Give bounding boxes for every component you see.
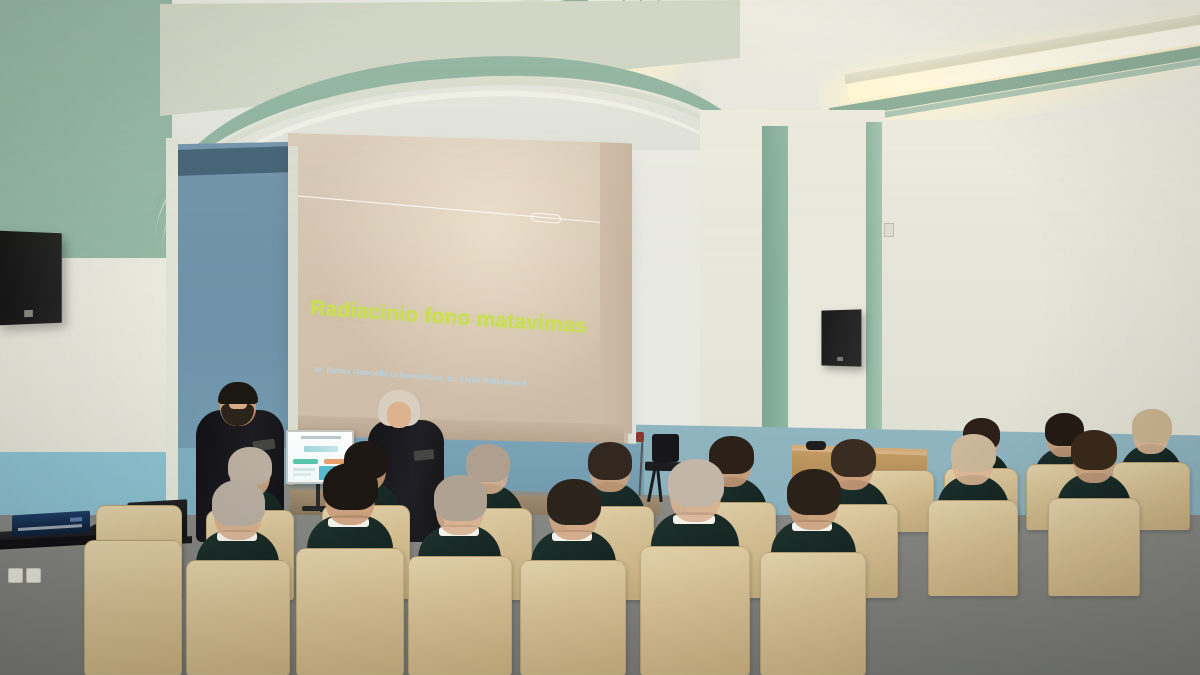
auditorium-seat[interactable] xyxy=(928,500,1018,596)
left-wall-green-band xyxy=(0,0,172,260)
presenter-right-face xyxy=(387,402,411,428)
alcove-header-shadow xyxy=(176,146,294,176)
audience-member-hair xyxy=(668,459,724,507)
alcove-frame-left xyxy=(166,138,178,523)
audience-member-hair xyxy=(212,480,265,526)
piano-top-object xyxy=(806,441,826,450)
slide-title: Radiacinio fono matavimas xyxy=(310,297,588,339)
wall-power-outlet[interactable] xyxy=(8,568,23,583)
wall-power-outlet[interactable] xyxy=(26,568,41,583)
auditorium-seat[interactable] xyxy=(408,556,512,675)
projection-screen: ktu 1922 Radiacinio fono matavimas dr. B… xyxy=(288,133,628,443)
audience-member-hair xyxy=(1132,409,1172,443)
audience-member-hair xyxy=(831,439,876,477)
wall-pier-green-secondary xyxy=(866,122,882,482)
slide-capsule-shape xyxy=(531,212,561,224)
stage-chair-back[interactable] xyxy=(652,434,679,462)
monitor-stand-neck xyxy=(316,484,320,508)
wall-speaker-left xyxy=(0,231,62,326)
auditorium-seat[interactable] xyxy=(760,552,866,675)
audience-member-hair xyxy=(951,434,996,472)
wall-speaker-right xyxy=(821,309,861,366)
auditorium-seat[interactable] xyxy=(1048,498,1140,596)
monitor-title-bar xyxy=(301,436,341,439)
monitor-heading xyxy=(304,446,338,452)
speaker-badge xyxy=(24,310,33,317)
auditorium-seat[interactable] xyxy=(296,548,404,675)
audience-member-hair xyxy=(1071,430,1117,470)
monitor-text-line xyxy=(293,468,315,471)
wall-pier-green xyxy=(762,126,788,476)
auditorium-seat[interactable] xyxy=(186,560,290,675)
auditorium-seat[interactable] xyxy=(640,546,750,675)
monitor-text-line xyxy=(293,473,311,476)
slide-subtitle: dr. Benas Gabrielis Urbonavičius, dr. Ži… xyxy=(314,365,528,389)
light-switch[interactable] xyxy=(884,223,894,237)
lecture-hall-scene: ktu 1922 Radiacinio fono matavimas dr. B… xyxy=(0,0,1200,675)
wall-pier-light xyxy=(788,126,866,478)
media-player-strip xyxy=(18,524,82,531)
audience-member-hair xyxy=(588,442,632,480)
audience-member-hair xyxy=(787,469,841,515)
auditorium-seat[interactable] xyxy=(520,560,626,675)
presenter-right-hoodie-logo xyxy=(414,449,435,461)
audience-member-hair xyxy=(434,475,487,521)
auditorium-seat[interactable] xyxy=(84,540,182,675)
media-player-led xyxy=(70,517,82,522)
microphone-head xyxy=(636,432,644,442)
media-player-box[interactable] xyxy=(12,511,90,538)
monitor-button-teal xyxy=(293,459,318,464)
slide-horizontal-rule xyxy=(294,195,610,224)
audience-member-hair xyxy=(323,463,378,510)
projection-screen-right-margin xyxy=(600,143,632,434)
speaker-badge xyxy=(837,357,843,361)
audience-member-hair xyxy=(547,479,601,525)
